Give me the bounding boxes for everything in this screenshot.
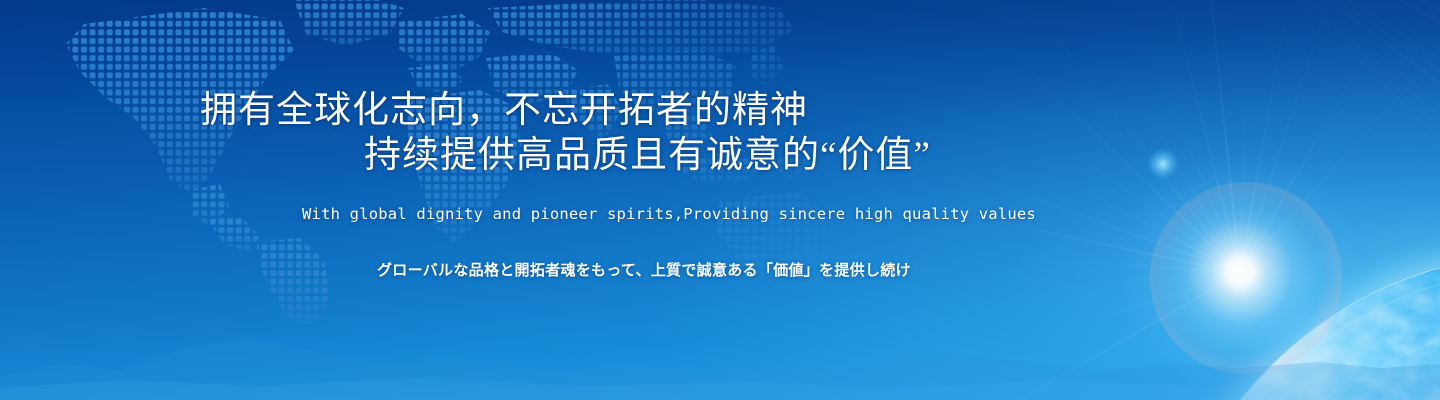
light-streak [1093,0,1440,223]
sun-ray [1198,0,1241,273]
sun-ray [1141,103,1241,274]
sun-ray [1008,49,1241,274]
light-streak [1105,0,1440,240]
light-streak [1006,0,1440,70]
sun-ray [1074,184,1241,274]
banner-copy: 拥有全球化志向，不忘开拓者的精神 持续提供高品质且有诚意的“价值” With g… [0,0,1000,400]
light-streak [985,0,1440,19]
planet-arc-outer [1175,270,1440,400]
light-streak [1051,0,1440,155]
light-streak [1014,0,1440,87]
planet-surface-texture [1160,255,1440,400]
planet-arc-inner [1228,323,1440,400]
sun-ray [1038,272,1240,339]
light-streak [1082,0,1440,206]
light-streak [992,0,1440,36]
sun-ray [1239,69,1248,273]
light-streaks [980,0,1440,320]
sun-ray [1239,31,1380,274]
light-streak [1032,0,1440,121]
sun-ray [1000,0,1241,274]
headline-line-2: 持续提供高品质且有诚意的“价值” [364,137,931,174]
light-streak [1071,0,1440,189]
light-streak [1023,0,1440,104]
light-streak [1061,0,1440,172]
sun-ray [1060,272,1240,287]
light-streak [1129,0,1440,274]
light-streak [999,0,1440,53]
subline-english: With global dignity and pioneer spirits,… [302,205,1036,223]
light-streak [1117,0,1440,257]
light-streak [1041,0,1440,138]
sun-ray [1159,0,1241,273]
hero-banner: 拥有全球化志向，不忘开拓者的精神 持续提供高品质且有诚意的“价值” With g… [0,0,1440,400]
sun-ray [1033,122,1240,274]
sun-ray [1239,15,1440,273]
sun-ray [1239,6,1288,273]
planet-rim-light [1160,255,1440,400]
sun-ray [1239,0,1345,273]
headline-line-1: 拥有全球化志向，不忘开拓者的精神 [200,92,808,129]
subline-japanese: グローバルな品格と開拓者魂をもって、上質で誠意ある「価値」を提供し続け [377,259,911,280]
earth-planet [1160,255,1440,400]
sun-ray [1141,29,1241,274]
sun-ray [994,255,1241,274]
lens-flare-dot [1148,149,1178,179]
lens-flare-halo-ring [1150,182,1342,374]
